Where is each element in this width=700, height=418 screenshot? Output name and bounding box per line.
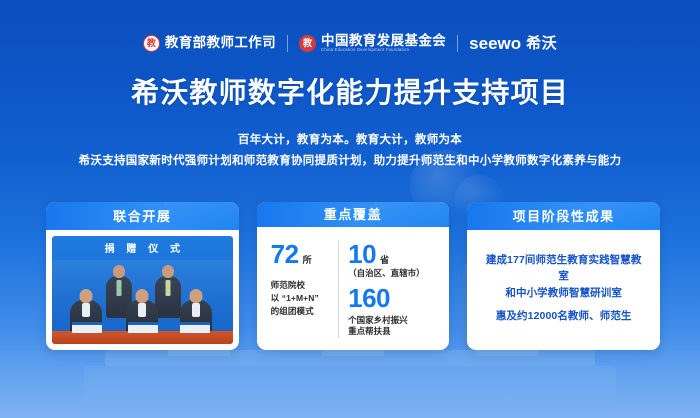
card-heading-label: 项目阶段性成果: [513, 210, 615, 223]
stat-number-row: 160 个国家乡村振兴: [348, 285, 439, 326]
logo-cedf: 教 中国教育发展基金会 China Education Development …: [288, 32, 457, 54]
card-body: 72 所 师范院校 以 “1+M+N” 的组团模式 10: [257, 227, 450, 350]
desk-nameplate: [72, 322, 102, 333]
logo-cedf-text: 中国教育发展基金会 China Education Development Fo…: [321, 34, 446, 53]
logo-moe: 教 教育部教师工作司: [132, 32, 287, 54]
card-body: 建成177间师范生教育实践智慧教室 和中小学教师智慧研训室 惠及约12000名教…: [467, 230, 660, 350]
stat-schools: 72 所 师范院校 以 “1+M+N” 的组团模式: [271, 241, 338, 338]
card-phase-results[interactable]: 项目阶段性成果 建成177间师范生教育实践智慧教室 和中小学教师智慧研训室 惠及…: [467, 202, 660, 350]
stat-schools-unit: 所: [303, 256, 312, 265]
logo-seewo: seewo 希沃: [458, 32, 568, 54]
donation-ceremony-photo: 捐 赠 仪 式: [52, 236, 233, 344]
desk-nameplate: [180, 322, 210, 333]
logo-seewo-cn: 希沃: [526, 36, 557, 51]
logo-cedf-label: 中国教育发展基金会: [321, 34, 446, 48]
phase-results: 建成177间师范生教育实践智慧教室 和中小学教师智慧研训室 惠及约12000名教…: [473, 236, 654, 344]
photo-caption: 捐 赠 仪 式: [52, 245, 233, 255]
result-line-2: 和中小学教师智慧研训室: [481, 285, 646, 301]
subtitle-line-1: 百年大计，教育为本。教育大计，教师为本: [0, 132, 700, 150]
stat-schools-desc: 师范院校 以 “1+M+N” 的组团模式: [271, 279, 332, 319]
stat-counties-unit: 个国家乡村振兴: [348, 315, 408, 326]
desk-nameplate: [128, 322, 158, 333]
card-header: 联合开展: [46, 202, 239, 230]
cards-row: 联合开展 捐 赠 仪 式: [46, 202, 660, 350]
logo-bar: 教 教育部教师工作司 教 中国教育发展基金会 China Education D…: [0, 30, 700, 56]
coverage-stats: 72 所 师范院校 以 “1+M+N” 的组团模式 10: [263, 233, 444, 344]
stat-number-row: 10 省: [348, 241, 439, 267]
stat-provinces: 10 省 （自治区、直辖市）: [348, 241, 439, 279]
stat-schools-desc-line3: 的组团模式: [271, 305, 332, 318]
card-body: 捐 赠 仪 式: [46, 230, 239, 350]
card-header: 重点覆盖: [257, 202, 450, 227]
stat-regions-group: 10 省 （自治区、直辖市） 160 个国家乡村振兴 重点帮扶县: [338, 241, 439, 338]
result-block-beneficiaries: 惠及约12000名教师、师范生: [496, 308, 632, 324]
subtitle-block: 百年大计，教育为本。教育大计，教师为本 希沃支持国家新时代强师计划和师范教育协同…: [0, 132, 700, 170]
stat-number-row: 72 所: [271, 241, 332, 267]
card-heading-label: 重点覆盖: [324, 208, 382, 221]
logo-seewo-latin: seewo: [469, 35, 521, 52]
page-title: 希沃教师数字化能力提升支持项目: [0, 76, 700, 110]
stat-counties-number: 160: [348, 285, 390, 311]
stat-schools-desc-line2: 以 “1+M+N”: [271, 292, 332, 305]
stat-schools-number: 72: [271, 241, 299, 267]
stat-provinces-unit: 省: [380, 256, 389, 265]
poster-root: 教 教育部教师工作司 教 中国教育发展基金会 China Education D…: [0, 0, 700, 418]
card-heading-label: 联合开展: [113, 210, 171, 223]
logo-moe-label: 教育部教师工作司: [165, 36, 276, 50]
card-joint-development[interactable]: 联合开展 捐 赠 仪 式: [46, 202, 239, 350]
card-header: 项目阶段性成果: [467, 202, 660, 230]
subtitle-line-2: 希沃支持国家新时代强师计划和师范教育协同提质计划，助力提升师范生和中小学教师数字…: [0, 152, 700, 170]
stat-counties: 160 个国家乡村振兴 重点帮扶县: [348, 285, 439, 338]
stat-provinces-note: （自治区、直辖市）: [348, 268, 439, 279]
bg-floor: [84, 366, 616, 406]
moe-emblem-icon: 教: [143, 35, 160, 52]
stat-counties-note: 重点帮扶县: [348, 326, 439, 338]
stat-provinces-number: 10: [348, 241, 376, 267]
card-key-coverage[interactable]: 重点覆盖 72 所 师范院校 以 “1+M+N” 的组团模式: [257, 202, 450, 350]
result-block-classrooms: 建成177间师范生教育实践智慧教室 和中小学教师智慧研训室: [481, 252, 646, 301]
result-line-1: 建成177间师范生教育实践智慧教室: [481, 252, 646, 285]
stat-schools-desc-line1: 师范院校: [271, 279, 332, 292]
cedf-emblem-icon: 教: [299, 35, 316, 52]
bg-table: [105, 350, 595, 366]
standing-person: [155, 276, 181, 318]
logo-cedf-sublabel: China Education Development Foundation: [321, 48, 446, 52]
